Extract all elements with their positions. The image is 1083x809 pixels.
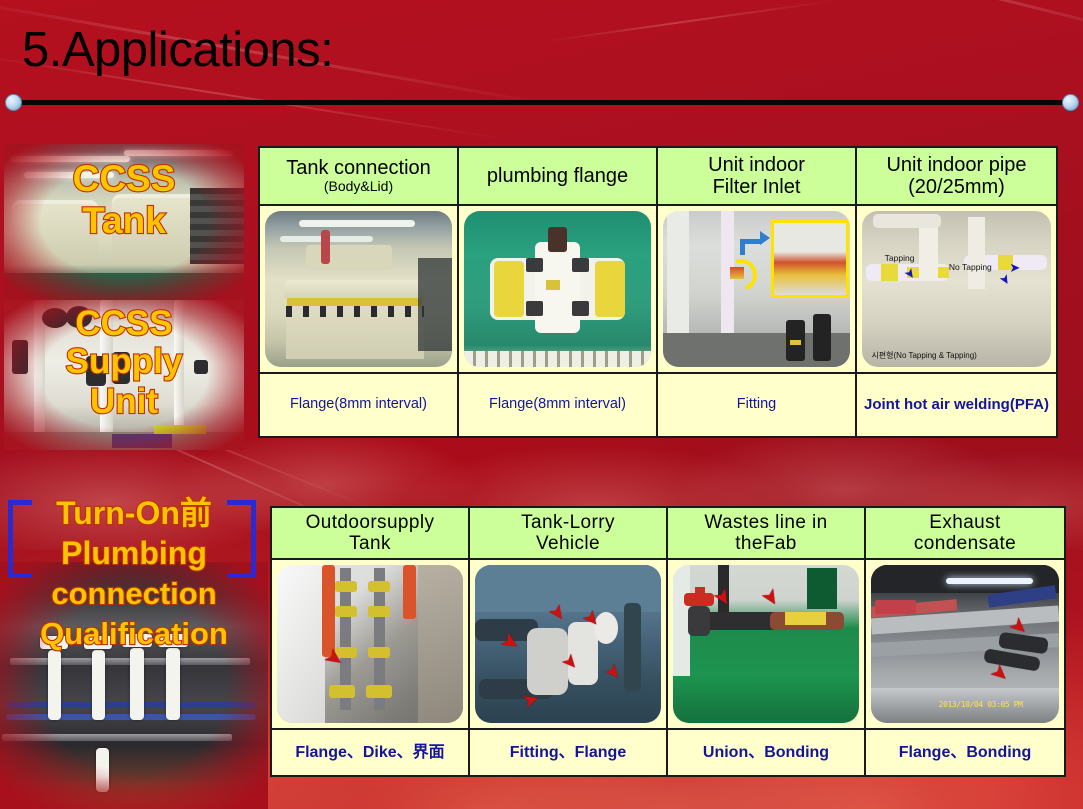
photo-ccss-tank xyxy=(4,144,244,299)
divider-dot-right-icon xyxy=(1062,94,1079,111)
table1-header-cell-1: Tank connection (Body&Lid) xyxy=(260,148,459,206)
photo-outdoor-supply-tank: ➤ xyxy=(277,565,463,723)
table2-caption-cell-2: Fitting、Flange xyxy=(470,730,668,775)
table1-image-cell-1 xyxy=(260,206,459,374)
table1-image-cell-2 xyxy=(459,206,658,374)
table2-caption-cell-1: Flange、Dike、界面 xyxy=(272,730,470,775)
table2-header-cell-2: Tank-Lorry Vehicle xyxy=(470,508,668,560)
header-title: Wastes line in xyxy=(704,512,827,533)
table2-caption-cell-4: Flange、Bonding xyxy=(866,730,1064,775)
header-title-2: theFab xyxy=(735,533,797,554)
header-title: Unit indoor pipe xyxy=(886,154,1026,176)
photo-exhaust-condensate: ➤ ➤ 2013/10/04 03:05 PM xyxy=(871,565,1059,723)
table2-caption-cell-3: Union、Bonding xyxy=(668,730,866,775)
table1-image-row: Tapping No Tapping 시편형(No Tapping & Tapp… xyxy=(260,206,1056,374)
light-streak xyxy=(766,0,1083,44)
applications-table-1: Tank connection (Body&Lid) plumbing flan… xyxy=(258,146,1058,438)
divider-dot-left-icon xyxy=(5,94,22,111)
table2-image-row: ➤ ➤ ➤ ➤ xyxy=(272,560,1064,730)
table1-header-cell-2: plumbing flange xyxy=(459,148,658,206)
photo-ccss-supply-unit xyxy=(4,300,244,450)
table2-image-cell-3: ➤ ➤ xyxy=(668,560,866,730)
photo-tank-lorry-vehicle: ➤ ➤ ➤ ➤ ➤ ➤ xyxy=(475,565,661,723)
header-title: Tank-Lorry xyxy=(521,512,615,533)
header-subtitle: (Body&Lid) xyxy=(324,179,393,195)
photo-panel-ccss-supply-unit: CCSS Supply Unit xyxy=(4,300,244,450)
table2-image-cell-2: ➤ ➤ ➤ ➤ ➤ ➤ xyxy=(470,560,668,730)
header-title-2: Vehicle xyxy=(536,533,600,554)
photo-unit-indoor-filter-inlet xyxy=(663,211,850,367)
photo-timestamp: 2013/10/04 03:05 PM xyxy=(939,700,1023,709)
table2-header-cell-1: Outdoorsupply Tank xyxy=(272,508,470,560)
header-title: Unit indoor xyxy=(708,154,805,176)
table2-image-cell-4: ➤ ➤ 2013/10/04 03:05 PM xyxy=(866,560,1064,730)
table1-header-row: Tank connection (Body&Lid) plumbing flan… xyxy=(260,148,1056,206)
header-title: plumbing flange xyxy=(487,165,628,187)
header-title-2: condensate xyxy=(914,533,1016,554)
table1-header-cell-4: Unit indoor pipe (20/25mm) xyxy=(857,148,1056,206)
header-title: Outdoorsupply xyxy=(306,512,435,533)
slide-canvas: 5.Applications: CCSS Tank xyxy=(0,0,1083,809)
photo-unit-indoor-pipe: Tapping No Tapping 시편형(No Tapping & Tapp… xyxy=(862,211,1051,367)
header-title-2: (20/25mm) xyxy=(908,176,1005,198)
page-title: 5.Applications: xyxy=(22,22,333,78)
table1-caption-cell-2: Flange(8mm interval) xyxy=(459,374,658,436)
table1-caption-cell-3: Fitting xyxy=(658,374,857,436)
table1-caption-cell-1: Flange(8mm interval) xyxy=(260,374,459,436)
photo-panel-turn-on-qualification xyxy=(0,562,268,809)
table1-header-cell-3: Unit indoor Filter Inlet xyxy=(658,148,857,206)
photo-wastes-line-in-fab: ➤ ➤ xyxy=(673,565,859,723)
title-divider xyxy=(14,100,1072,105)
table1-image-cell-4: Tapping No Tapping 시편형(No Tapping & Tapp… xyxy=(857,206,1056,374)
table2-caption-row: Flange、Dike、界面 Fitting、Flange Union、Bond… xyxy=(272,730,1064,775)
table1-caption-cell-4: Joint hot air welding(PFA) xyxy=(857,374,1056,436)
table2-image-cell-1: ➤ xyxy=(272,560,470,730)
header-title-2: Filter Inlet xyxy=(713,176,801,198)
table1-image-cell-3 xyxy=(658,206,857,374)
photo-plumbing-flange xyxy=(464,211,651,367)
header-title: Tank connection xyxy=(286,157,431,179)
panel3-caption-line1: Turn-On前 xyxy=(0,497,268,529)
table2-header-cell-4: Exhaust condensate xyxy=(866,508,1064,560)
light-streak xyxy=(541,0,838,43)
applications-table-2: Outdoorsupply Tank Tank-Lorry Vehicle Wa… xyxy=(270,506,1066,777)
photo-tank-connection xyxy=(265,211,452,367)
table2-header-row: Outdoorsupply Tank Tank-Lorry Vehicle Wa… xyxy=(272,508,1064,560)
header-title: Exhaust xyxy=(929,512,1000,533)
table2-header-cell-3: Wastes line in theFab xyxy=(668,508,866,560)
photo-panel-ccss-tank: CCSS Tank xyxy=(4,144,244,299)
photo-plumbing-rack xyxy=(0,562,268,809)
table1-caption-row: Flange(8mm interval) Flange(8mm interval… xyxy=(260,374,1056,436)
header-title-2: Tank xyxy=(349,533,391,554)
